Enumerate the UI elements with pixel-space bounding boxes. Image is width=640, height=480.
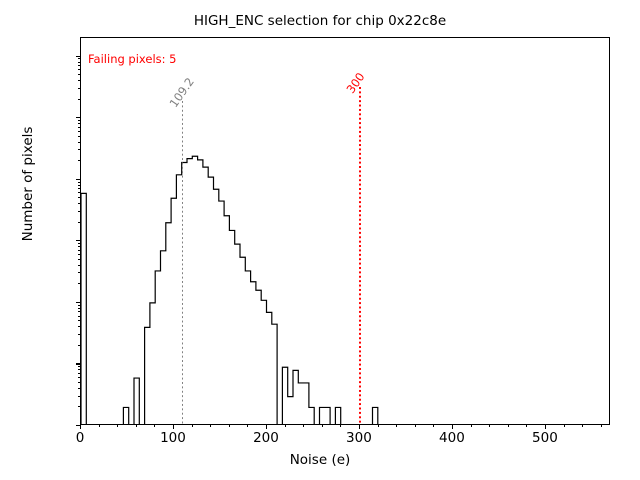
x-tick-minor-mark [154, 425, 155, 427]
x-axis-label: Noise (e) [0, 452, 640, 468]
x-tick-minor-mark [117, 425, 118, 427]
x-tick-minor-mark [471, 425, 472, 427]
x-tick-minor-mark [415, 425, 416, 427]
histogram-series [81, 38, 610, 425]
x-tick-minor-mark [322, 425, 323, 427]
x-tick-minor-mark [340, 425, 341, 427]
x-tick-label: 500 [532, 430, 558, 446]
x-tick-minor-mark [210, 425, 211, 427]
figure: HIGH_ENC selection for chip 0x22c8e Numb… [0, 0, 640, 480]
x-tick-minor-mark [285, 425, 286, 427]
x-tick-minor-mark [247, 425, 248, 427]
plot-area [80, 37, 610, 425]
x-tick-minor-mark [433, 425, 434, 427]
x-tick-minor-mark [601, 425, 602, 427]
x-tick-mark [266, 425, 267, 429]
y-axis-label: Number of pixels [20, 0, 36, 378]
histogram-outline [81, 156, 510, 425]
x-tick-minor-mark [378, 425, 379, 427]
x-tick-minor-mark [489, 425, 490, 427]
x-tick-mark [173, 425, 174, 429]
x-tick-label: 0 [76, 430, 85, 446]
x-tick-minor-mark [99, 425, 100, 427]
x-tick-minor-mark [508, 425, 509, 427]
x-tick-label: 400 [439, 430, 465, 446]
x-tick-minor-mark [136, 425, 137, 427]
x-tick-mark [452, 425, 453, 429]
x-tick-minor-mark [192, 425, 193, 427]
x-tick-label: 100 [160, 430, 186, 446]
x-tick-minor-mark [303, 425, 304, 427]
x-tick-label: 300 [346, 430, 372, 446]
threshold-vertical-line [359, 87, 361, 424]
x-tick-minor-mark [229, 425, 230, 427]
x-tick-label: 200 [253, 430, 279, 446]
x-tick-minor-mark [564, 425, 565, 427]
x-tick-minor-mark [396, 425, 397, 427]
x-tick-minor-mark [582, 425, 583, 427]
mean-vertical-line [182, 101, 184, 424]
x-tick-minor-mark [526, 425, 527, 427]
x-tick-mark [545, 425, 546, 429]
page-title: HIGH_ENC selection for chip 0x22c8e [0, 13, 640, 29]
x-tick-mark [80, 425, 81, 429]
x-tick-mark [359, 425, 360, 429]
